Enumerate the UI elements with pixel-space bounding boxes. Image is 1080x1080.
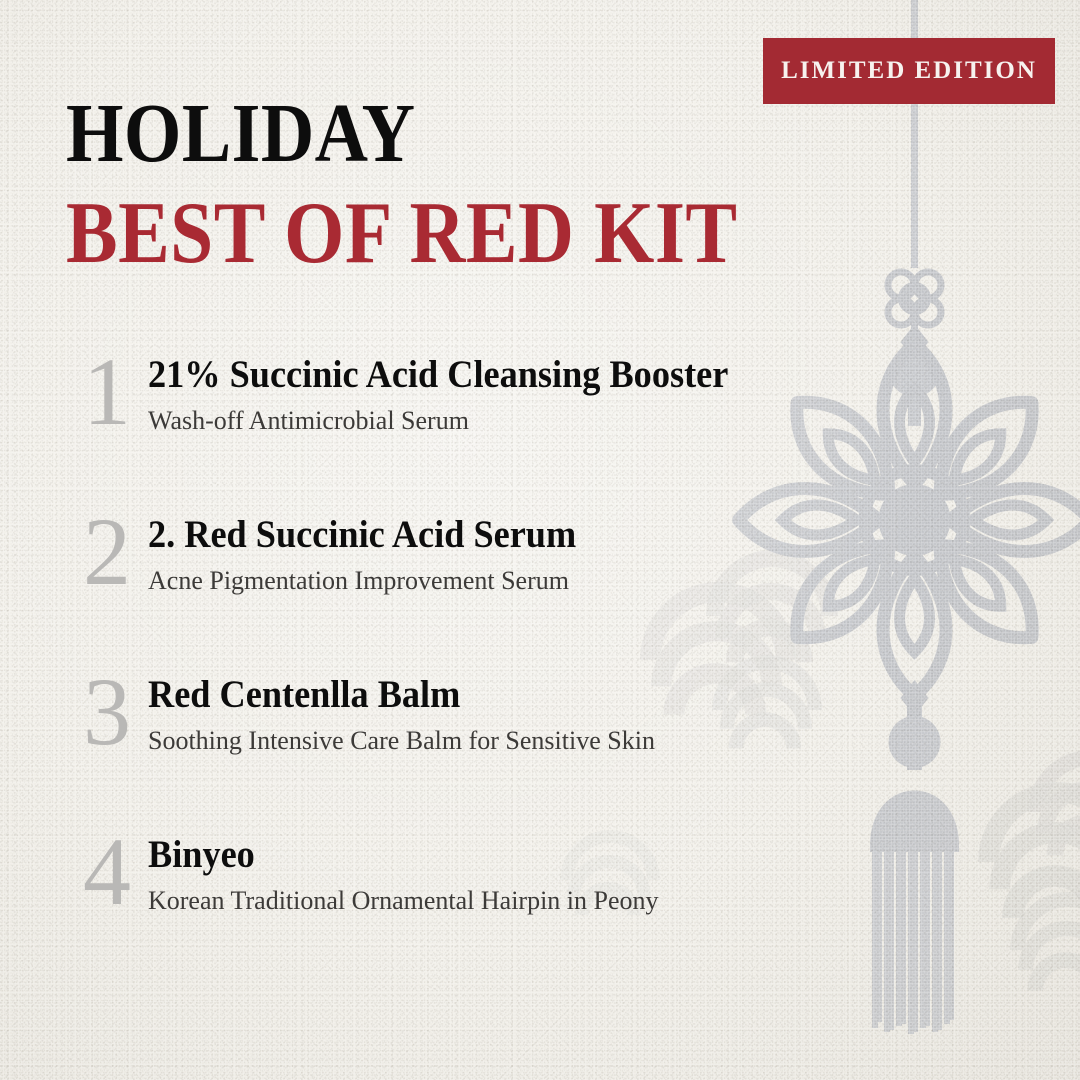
list-item-number: 3 bbox=[76, 664, 138, 760]
list-item-subtitle: Wash-off Antimicrobial Serum bbox=[148, 405, 772, 436]
list-item-number: 1 bbox=[76, 344, 138, 440]
list-item: 2 2. Red Succinic Acid Serum Acne Pigmen… bbox=[76, 508, 876, 668]
korean-decorative-knot bbox=[888, 272, 941, 325]
headline-line-2: BEST OF RED KIT bbox=[66, 194, 737, 275]
list-item: 3 Red Centenlla Balm Soothing Intensive … bbox=[76, 668, 876, 828]
tassel-cap bbox=[870, 791, 959, 853]
limited-edition-label: LIMITED EDITION bbox=[781, 57, 1037, 85]
list-item-number: 4 bbox=[76, 824, 138, 920]
fringe-tassel bbox=[872, 852, 954, 1034]
list-item-subtitle: Acne Pigmentation Improvement Serum bbox=[148, 565, 608, 596]
headline-line-1: HOLIDAY bbox=[66, 95, 737, 172]
ornament-bead bbox=[890, 347, 940, 397]
list-item-subtitle: Korean Traditional Ornamental Hairpin in… bbox=[148, 885, 659, 916]
list-item-title: 2. Red Succinic Acid Serum bbox=[148, 514, 576, 556]
list-item-title: 21% Succinic Acid Cleansing Booster bbox=[148, 354, 728, 396]
limited-edition-badge: LIMITED EDITION bbox=[763, 38, 1055, 104]
list-item-title: Binyeo bbox=[148, 834, 623, 876]
medallion-center-ring bbox=[865, 470, 965, 570]
medallion-center-disc bbox=[879, 484, 951, 556]
list-item-number: 2 bbox=[76, 504, 138, 600]
list-item-body: Binyeo Korean Traditional Ornamental Hai… bbox=[148, 834, 659, 916]
product-list: 1 21% Succinic Acid Cleansing Booster Wa… bbox=[76, 348, 876, 988]
list-item-title: Red Centenlla Balm bbox=[148, 674, 619, 716]
list-item-body: 21% Succinic Acid Cleansing Booster Wash… bbox=[148, 354, 772, 436]
list-item-body: Red Centenlla Balm Soothing Intensive Ca… bbox=[148, 674, 655, 756]
list-item: 4 Binyeo Korean Traditional Ornamental H… bbox=[76, 828, 876, 988]
poster-canvas: LIMITED EDITION HOLIDAY BEST OF RED KIT … bbox=[0, 0, 1080, 1080]
list-item: 1 21% Succinic Acid Cleansing Booster Wa… bbox=[76, 348, 876, 508]
tassel-bead bbox=[889, 716, 941, 768]
list-item-body: 2. Red Succinic Acid Serum Acne Pigmenta… bbox=[148, 514, 608, 596]
list-item-subtitle: Soothing Intensive Care Balm for Sensiti… bbox=[148, 725, 655, 756]
page-title: HOLIDAY BEST OF RED KIT bbox=[66, 95, 829, 275]
